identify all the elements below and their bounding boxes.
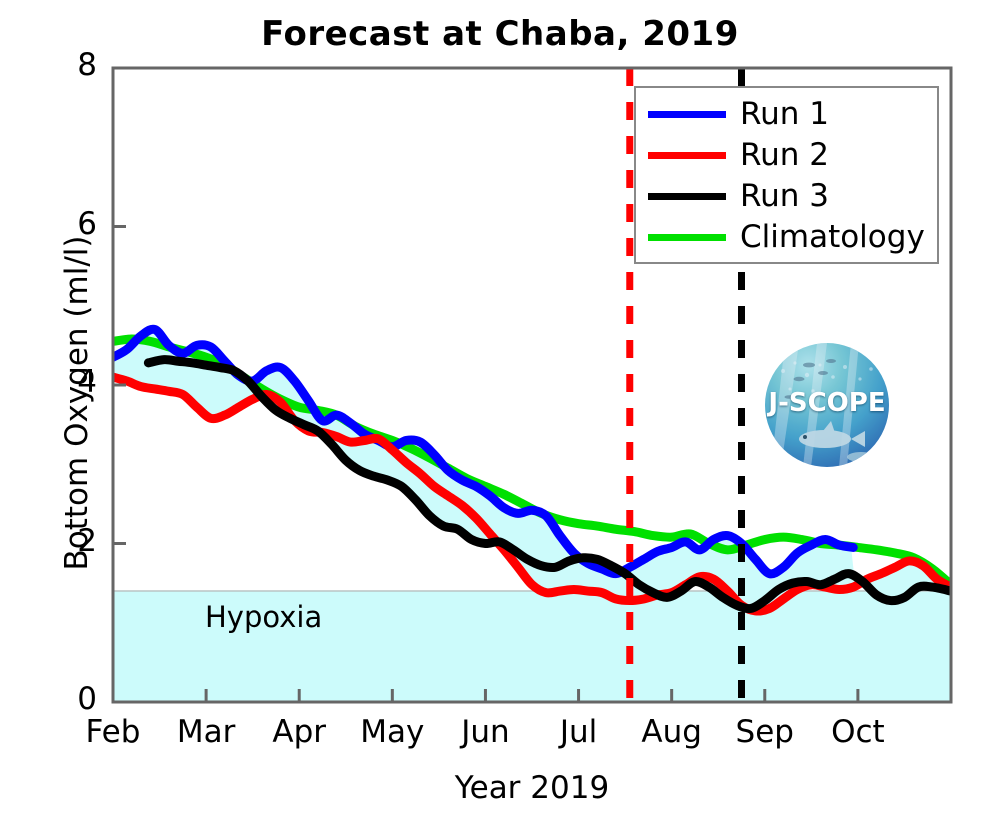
legend-label-1: Run 1 (740, 99, 829, 130)
x-tick-label-8: Oct (798, 714, 918, 750)
jscope-logo-text: J-SCOPE (765, 388, 889, 418)
legend-item-1[interactable]: Run 1 (636, 94, 937, 135)
chart-legend: Run 1Run 2Run 3Climatology (634, 86, 939, 264)
hypoxia-annotation: Hypoxia (205, 600, 322, 634)
legend-swatch-1 (648, 111, 726, 118)
legend-label-2: Run 2 (740, 140, 829, 171)
legend-label-3: Run 3 (740, 181, 829, 212)
legend-swatch-2 (648, 152, 726, 159)
x-axis-label: Year 2019 (113, 770, 951, 806)
y-tick-label-4: 8 (37, 47, 97, 83)
y-axis-label: Bottom Oxygen (ml/l) (59, 83, 95, 723)
legend-item-4[interactable]: Climatology (636, 217, 937, 258)
legend-swatch-3 (648, 193, 726, 200)
legend-label-4: Climatology (740, 222, 925, 253)
jscope-logo: J-SCOPE (765, 343, 889, 467)
legend-item-2[interactable]: Run 2 (636, 135, 937, 176)
legend-item-3[interactable]: Run 3 (636, 176, 937, 217)
chart-figure: Forecast at Chaba, 2019 (0, 0, 1000, 825)
legend-swatch-4 (648, 234, 726, 241)
